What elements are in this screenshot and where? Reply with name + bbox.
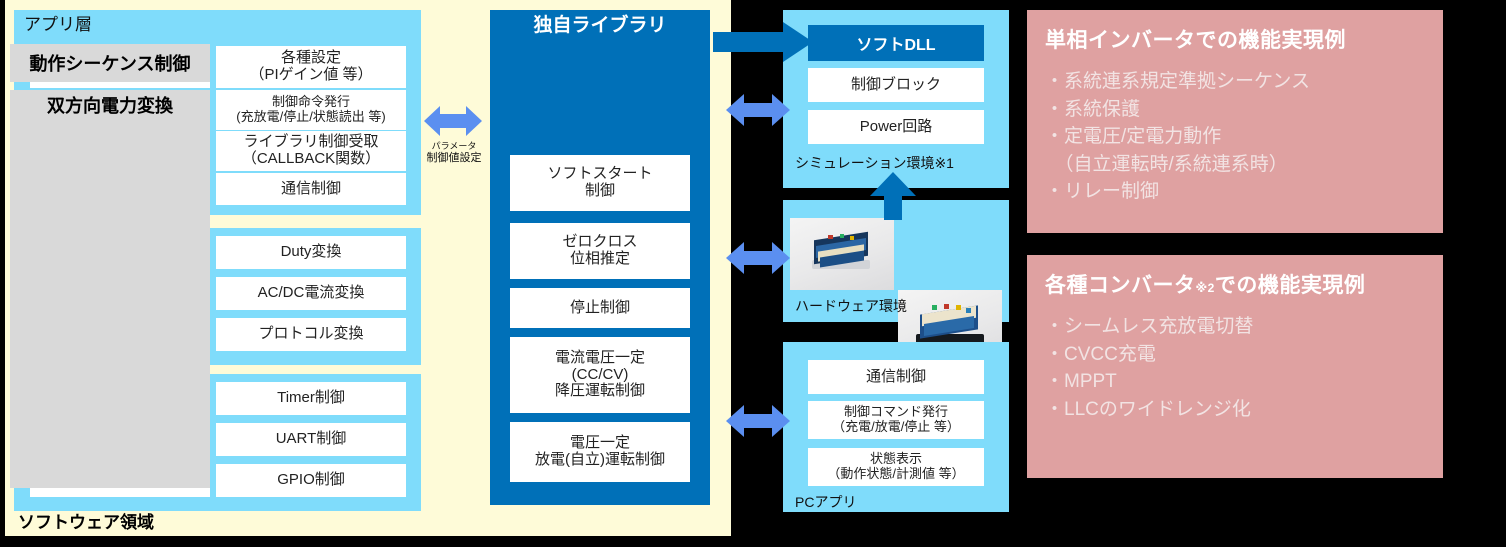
double-arrow-icon	[424, 104, 482, 138]
parameter-exchange-arrow	[424, 104, 482, 138]
cell-driver-4[interactable]: GPIO制御	[216, 464, 406, 497]
example-converter-title: 各種コンバータ※2での機能実現例	[1045, 269, 1425, 299]
example-panel-inverter: 単相インバータでの機能実現例 ・系統連系規定準拠シーケンス ・系統保護 ・定電圧…	[1027, 10, 1443, 233]
mask-right-gutter	[1009, 0, 1027, 547]
example-inverter-item-1: ・系統保護	[1045, 96, 1425, 124]
library-hardware-arrow	[726, 240, 790, 276]
mask-between-pink	[1027, 233, 1443, 255]
example-converter-item-0: ・シームレス充放電切替	[1045, 313, 1425, 341]
simulation-env-label: シミュレーション環境※1	[789, 153, 954, 173]
cell-middle-4[interactable]: プロトコル変換	[216, 318, 406, 351]
parameter-note-line2: 制御値設定	[424, 152, 484, 164]
cell-driver-0[interactable]: Timer制御	[216, 382, 406, 415]
library-conversion-title: 双方向電力変換	[10, 90, 210, 122]
mask-bottom-strip	[0, 536, 1506, 547]
library-pcapp-arrow	[726, 403, 790, 439]
library-title: 独自ライブラリ	[490, 10, 710, 42]
library-sim-arrow	[726, 92, 790, 128]
mask-below-pink	[1027, 478, 1443, 536]
library-to-dll-arrow	[713, 22, 813, 62]
library-item-4[interactable]: 電圧一定放電(自立)運転制御	[510, 422, 690, 482]
pc-app-label: PCアプリ	[789, 492, 856, 512]
cell-app-1[interactable]: 各種設定（PIゲイン値 等）	[216, 46, 406, 88]
example-inverter-list: ・系統連系規定準拠シーケンス ・系統保護 ・定電圧/定電力動作 （自立運転時/系…	[1045, 68, 1425, 206]
library-item-0[interactable]: ソフトスタート制御	[510, 155, 690, 211]
library-conversion-block: 双方向電力変換	[10, 90, 210, 488]
example-converter-item-2: ・MPPT	[1045, 368, 1425, 396]
pc-app-item-2[interactable]: 状態表示（動作状態/計測値 等）	[808, 448, 984, 486]
library-item-3[interactable]: 電流電圧一定(CC/CV)降圧運転制御	[510, 337, 690, 413]
software-area-label: ソフトウェア領域	[18, 508, 154, 533]
sim-item-0[interactable]: 制御ブロック	[808, 68, 984, 102]
soft-dll-block[interactable]: ソフトDLL	[808, 25, 984, 61]
sim-item-1[interactable]: Power回路	[808, 110, 984, 144]
library-item-2[interactable]: 停止制御	[510, 288, 690, 328]
parameter-note-line1: パラメータ	[424, 142, 484, 152]
cell-driver-2[interactable]: UART制御	[216, 423, 406, 456]
pc-app-item-1[interactable]: 制御コマンド発行（充電/放電/停止 等）	[808, 401, 984, 439]
hardware-photo-1	[790, 218, 894, 290]
example-inverter-title: 単相インバータでの機能実現例	[1045, 24, 1425, 54]
cell-middle-0[interactable]: Duty変換	[216, 236, 406, 269]
library-sequence-block[interactable]: 動作シーケンス制御	[10, 44, 210, 82]
cell-app-3[interactable]: 制御命令発行(充放電/停止/状態読出 等)	[216, 90, 406, 130]
mask-far-right	[1443, 0, 1506, 547]
example-converter-title-post: での機能実現例	[1215, 274, 1366, 297]
example-converter-title-pre: 各種コンバータ	[1045, 274, 1196, 297]
up-arrow-icon	[870, 172, 916, 220]
example-panel-converter: 各種コンバータ※2での機能実現例 ・シームレス充放電切替 ・CVCC充電 ・MP…	[1027, 255, 1443, 478]
parameter-note: パラメータ 制御値設定	[424, 142, 484, 164]
cell-middle-2[interactable]: AC/DC電流変換	[216, 277, 406, 310]
example-converter-item-3: ・LLCのワイドレンジ化	[1045, 396, 1425, 424]
example-inverter-item-4: ・リレー制御	[1045, 178, 1425, 206]
example-converter-item-1: ・CVCC充電	[1045, 341, 1425, 369]
layer-app-title: アプリ層	[14, 10, 421, 40]
hardware-to-sim-arrow	[870, 172, 916, 220]
pc-app-item-0[interactable]: 通信制御	[808, 360, 984, 394]
double-arrow-icon	[726, 92, 790, 128]
double-arrow-icon	[726, 403, 790, 439]
double-arrow-icon	[726, 240, 790, 276]
example-converter-title-sup: ※2	[1196, 281, 1215, 295]
hardware-env-label: ハードウェア環境	[789, 296, 907, 316]
library-item-1[interactable]: ゼロクロス位相推定	[510, 223, 690, 279]
cell-app-7[interactable]: 通信制御	[216, 173, 406, 205]
cell-app-5[interactable]: ライブラリ制御受取（CALLBACK関数）	[216, 131, 406, 171]
example-inverter-item-2: ・定電圧/定電力動作	[1045, 123, 1425, 151]
right-arrow-icon	[713, 22, 813, 62]
example-converter-list: ・シームレス充放電切替 ・CVCC充電 ・MPPT ・LLCのワイドレンジ化	[1045, 313, 1425, 423]
example-inverter-item-0: ・系統連系規定準拠シーケンス	[1045, 68, 1425, 96]
example-inverter-item-3: （自立運転時/系統連系時）	[1045, 151, 1425, 179]
